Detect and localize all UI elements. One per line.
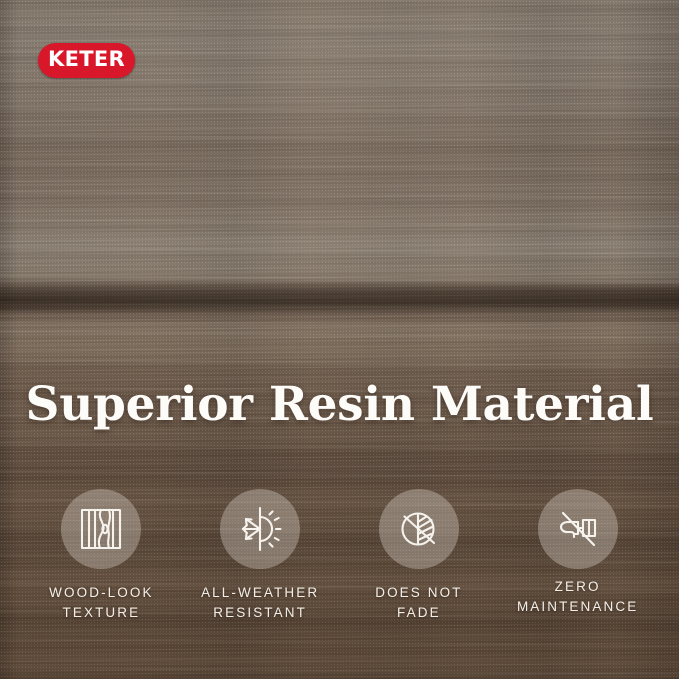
feature-item-zero-maintenance: ZERO MAINTENANCE	[498, 489, 657, 622]
feature-badge	[220, 489, 300, 569]
feature-item-wood-look-texture: WOOD-LOOK TEXTURE	[22, 489, 181, 622]
page-title: Superior Resin Material	[0, 381, 679, 428]
feature-caption: ZERO MAINTENANCE	[517, 577, 638, 616]
feature-caption: WOOD-LOOK TEXTURE	[49, 583, 153, 622]
snowflake-sun-icon	[236, 506, 284, 552]
feature-item-all-weather-resistant: ALL-WEATHER RESISTANT	[181, 489, 340, 622]
leaf-no-fade-icon	[396, 506, 442, 552]
paint-roller-slashed-icon	[554, 507, 602, 551]
wood-grain-texture-icon	[78, 506, 124, 552]
feature-caption: DOES NOT FADE	[375, 583, 462, 622]
feature-list: WOOD-LOOK TEXTURE	[0, 489, 679, 622]
keter-logo: KETER	[38, 43, 135, 78]
feature-item-does-not-fade: DOES NOT FADE	[340, 489, 499, 622]
product-feature-banner: KETER Superior Resin Material	[0, 0, 679, 679]
feature-caption: ALL-WEATHER RESISTANT	[201, 583, 319, 622]
feature-badge	[61, 489, 141, 569]
feature-badge	[538, 489, 618, 569]
keter-logo-text: KETER	[48, 49, 125, 70]
feature-badge	[379, 489, 459, 569]
